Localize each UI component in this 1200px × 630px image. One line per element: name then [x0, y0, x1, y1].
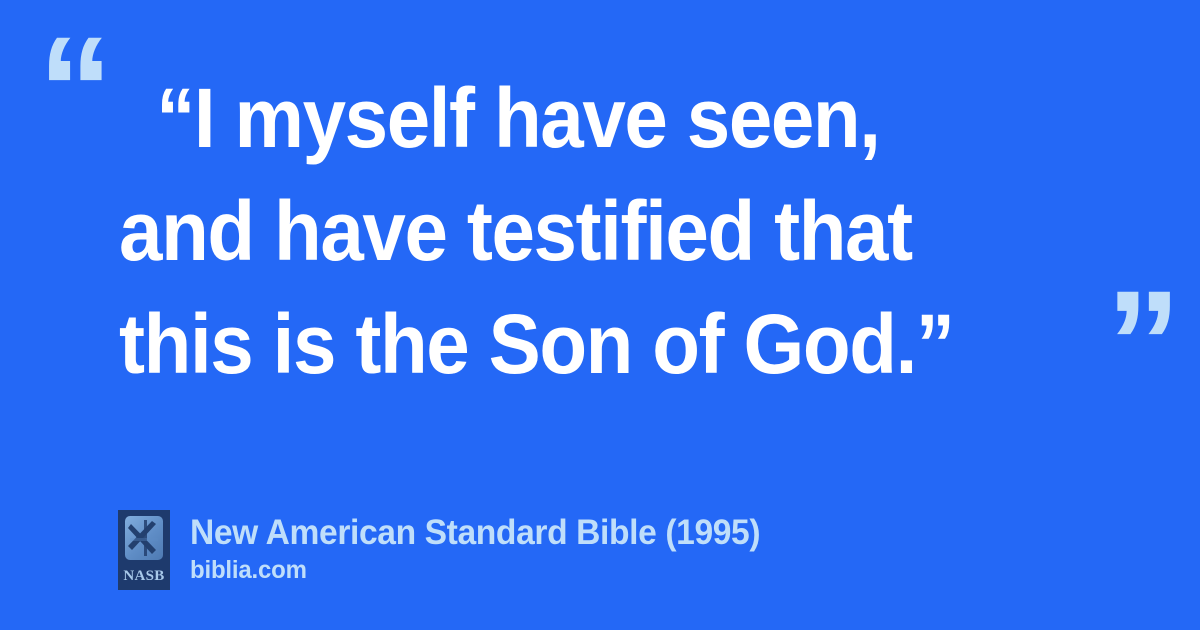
- nasb-abbreviation-label: NASB: [118, 568, 170, 585]
- nasb-cross-mark-icon: [125, 516, 163, 560]
- quote-line: this is the Son of God.”: [0, 288, 1032, 401]
- attribution-text-group: New American Standard Bible (1995) bibli…: [190, 510, 784, 585]
- quote-block: “I myself have seen, and have testified …: [0, 62, 1110, 401]
- bible-version-label: New American Standard Bible (1995): [190, 513, 760, 553]
- quote-line: and have testified that: [0, 175, 1032, 288]
- site-url-label[interactable]: biblia.com: [190, 555, 760, 585]
- nasb-logo-inner-tile: [125, 516, 163, 560]
- quote-card: “ “I myself have seen, and have testifie…: [0, 0, 1200, 630]
- closing-quote-decoration-icon: ”: [1106, 268, 1179, 418]
- attribution-footer: NASB New American Standard Bible (1995) …: [118, 510, 784, 590]
- nasb-logo-icon: NASB: [118, 510, 170, 590]
- quote-line: “I myself have seen,: [0, 62, 1032, 175]
